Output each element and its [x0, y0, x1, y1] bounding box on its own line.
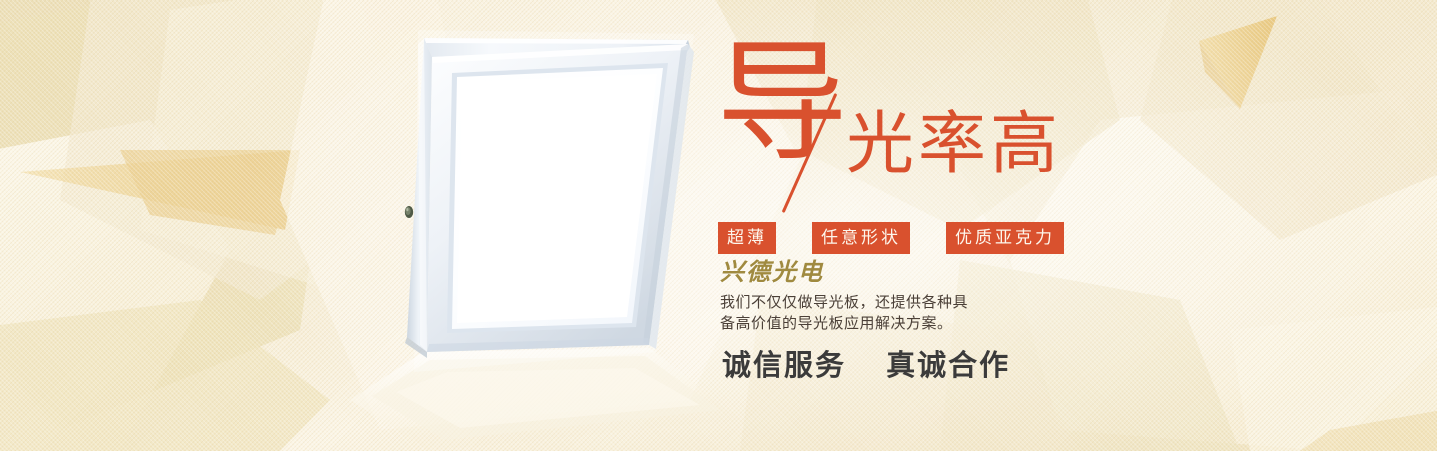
feature-tag-ultra-thin[interactable]: 超薄: [718, 222, 776, 254]
feature-tag-premium-acrylic[interactable]: 优质亚克力: [946, 222, 1064, 254]
banner-copy: 导 光率高 超薄 任意形状 优质亚克力 兴德光电 我们不仅仅做导光板，还提供各种…: [712, 0, 1212, 451]
description-line-2: 备高价值的导光板应用解决方案。: [720, 314, 1005, 335]
brand-name: 兴德光电: [720, 261, 824, 285]
slogan-part-2: 真诚合作: [886, 350, 1010, 382]
headline-primary-char: 导: [716, 38, 848, 170]
feature-tag-list: 超薄 任意形状 优质亚克力: [718, 222, 1064, 254]
headline: 导 光率高: [712, 44, 1142, 204]
slogan-part-1: 诚信服务: [722, 350, 846, 382]
feature-tag-any-shape[interactable]: 任意形状: [812, 222, 910, 254]
promo-banner: 导 光率高 超薄 任意形状 优质亚克力 兴德光电 我们不仅仅做导光板，还提供各种…: [0, 0, 1437, 451]
description-line-1: 我们不仅仅做导光板，还提供各种具: [720, 293, 1005, 314]
description-text: 我们不仅仅做导光板，还提供各种具 备高价值的导光板应用解决方案。: [720, 293, 1005, 335]
slogan: 诚信服务 真诚合作: [722, 352, 1010, 381]
headline-secondary-text: 光率高: [846, 110, 1062, 178]
